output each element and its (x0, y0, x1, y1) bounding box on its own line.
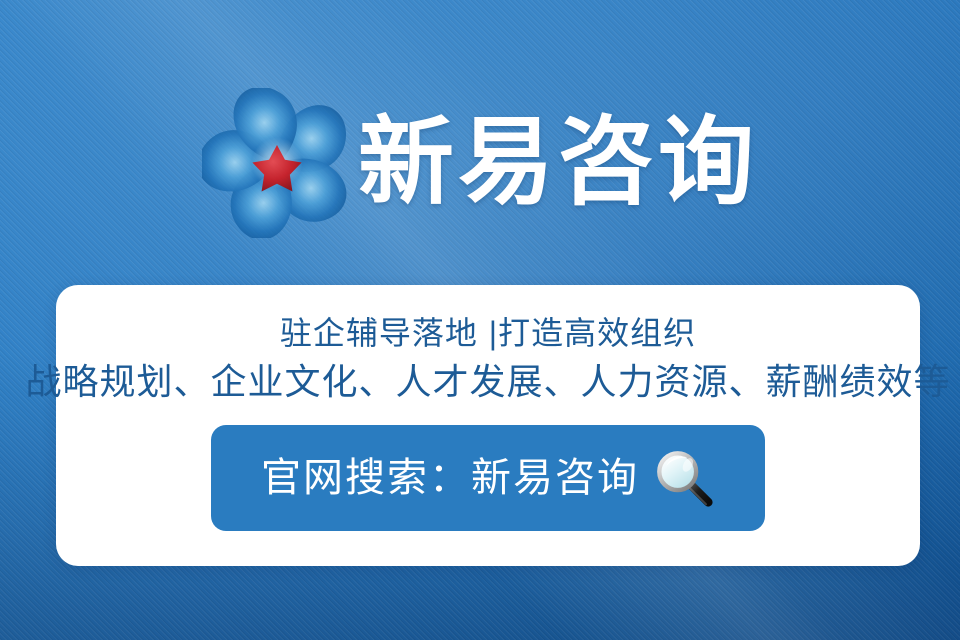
info-card: 驻企辅导落地 |打造高效组织 战略规划、企业文化、人才发展、人力资源、薪酬绩效等… (56, 285, 920, 566)
magnifying-glass-icon (653, 447, 715, 509)
pinwheel-swirl-logo-icon (202, 88, 352, 238)
page-title: 新易咨询 (358, 115, 758, 211)
official-site-search-button[interactable]: 官网搜索：新易咨询 (211, 425, 765, 531)
card-tagline-primary-before: 驻企辅导落地 (280, 315, 488, 351)
official-site-search-label: 官网搜索：新易咨询 (261, 458, 639, 498)
poster-header: 新易咨询 (0, 78, 960, 248)
card-tagline-separator: | (488, 315, 498, 351)
card-tagline-services: 战略规划、企业文化、人才发展、人力资源、薪酬绩效等 (26, 359, 951, 404)
card-tagline-primary: 驻企辅导落地 |打造高效组织 (280, 313, 696, 353)
promo-poster: 新易咨询 驻企辅导落地 |打造高效组织 战略规划、企业文化、人才发展、人力资源、… (0, 0, 960, 640)
card-tagline-primary-after: 打造高效组织 (498, 315, 696, 351)
